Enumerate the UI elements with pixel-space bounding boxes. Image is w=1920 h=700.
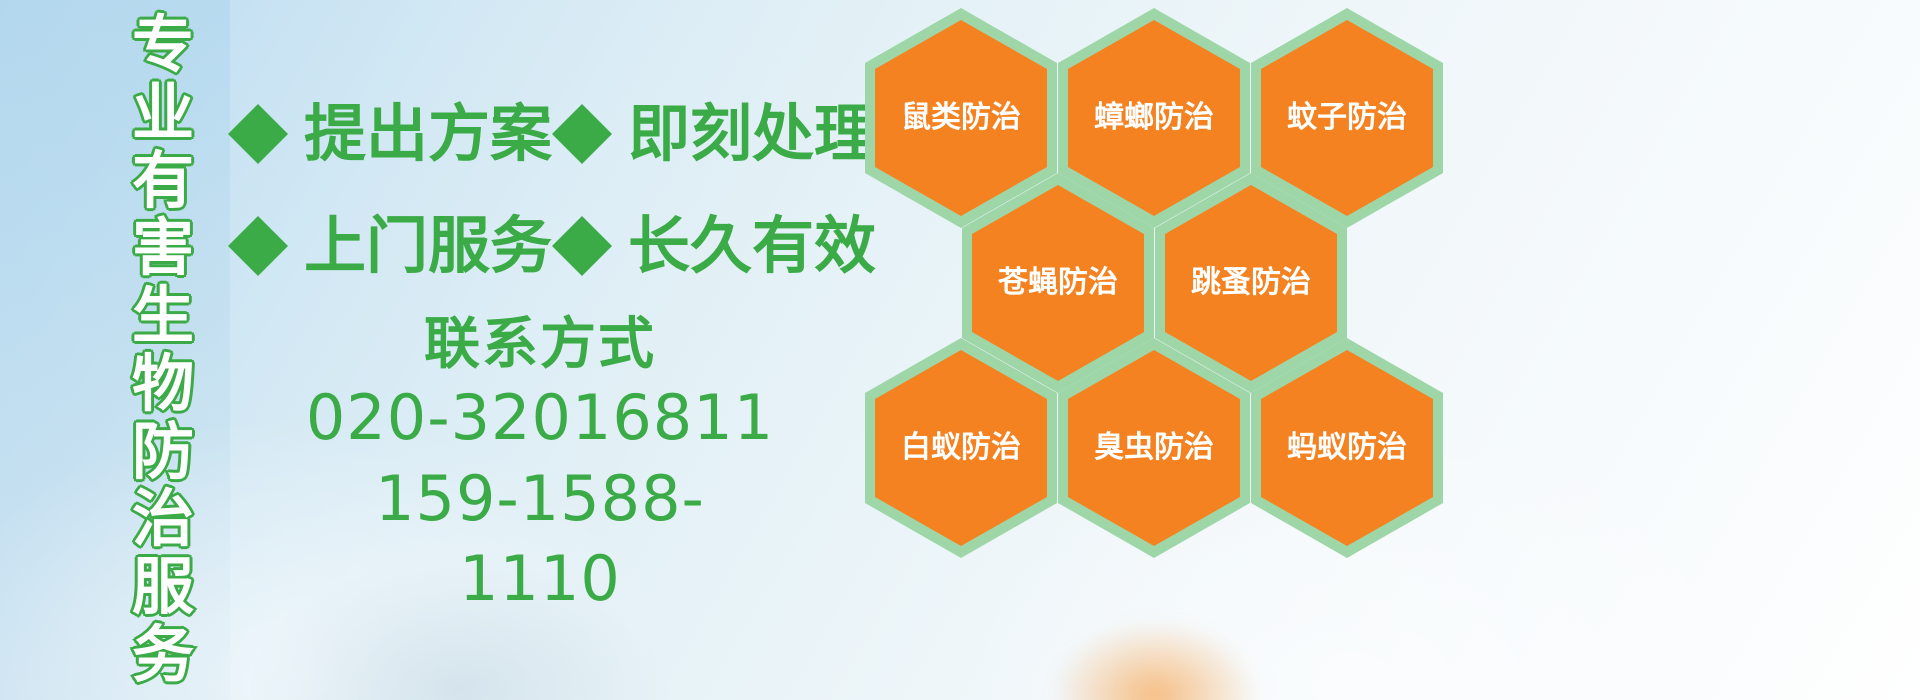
vertical-headline-char: 服 xyxy=(132,556,194,618)
diamond-icon xyxy=(552,74,612,134)
feature-list: 提出方案 即刻处理 上门服务 长久有效 xyxy=(228,78,868,302)
feature-item-immediate-handling: 即刻处理 xyxy=(552,103,876,165)
hexagon-inner: 蚊子防治 xyxy=(1261,20,1433,216)
feature-row: 上门服务 长久有效 xyxy=(228,190,868,302)
hexagon-inner: 蚂蚁防治 xyxy=(1261,350,1433,546)
hexagon-inner: 跳蚤防治 xyxy=(1165,185,1337,381)
hexagon-inner: 苍蝇防治 xyxy=(972,185,1144,381)
feature-item-long-lasting: 长久有效 xyxy=(552,215,876,277)
service-label: 白蚁防治 xyxy=(901,433,1021,463)
service-label: 蟑螂防治 xyxy=(1094,103,1214,133)
vertical-headline-char: 专 xyxy=(132,14,194,76)
background-orange-blur xyxy=(1050,620,1260,700)
diamond-icon xyxy=(552,186,612,246)
service-hexagon-grid: 鼠类防治 蟑螂防治 蚊子防治 苍蝇防治 跳蚤防治 白蚁防治 xyxy=(855,0,1475,560)
contact-phone-mobile[interactable]: 159-1588-1110 xyxy=(300,459,780,620)
vertical-headline-char: 物 xyxy=(132,353,194,415)
contact-title: 联系方式 xyxy=(300,312,780,378)
vertical-headline-char: 务 xyxy=(132,624,194,686)
feature-label: 提出方案 xyxy=(304,103,552,165)
feature-row: 提出方案 即刻处理 xyxy=(228,78,868,190)
feature-item-onsite-service: 上门服务 xyxy=(228,215,552,277)
service-label: 跳蚤防治 xyxy=(1191,268,1311,298)
vertical-headline-char: 防 xyxy=(132,421,194,483)
feature-label: 即刻处理 xyxy=(628,103,876,165)
service-label: 蚂蚁防治 xyxy=(1287,433,1407,463)
vertical-headline: 专 业 有 害 生 物 防 治 服 务 xyxy=(108,14,218,686)
contact-block: 联系方式 020-32016811 159-1588-1110 xyxy=(300,312,780,620)
hexagon-inner: 白蚁防治 xyxy=(875,350,1047,546)
hexagon-inner: 蟑螂防治 xyxy=(1068,20,1240,216)
feature-item-propose-plan: 提出方案 xyxy=(228,103,552,165)
pest-control-banner: 专 业 有 害 生 物 防 治 服 务 提出方案 即刻处理 上门服务 xyxy=(0,0,1920,700)
service-label: 臭虫防治 xyxy=(1094,433,1214,463)
diamond-icon xyxy=(228,74,288,134)
vertical-headline-char: 害 xyxy=(132,217,194,279)
contact-phone-landline[interactable]: 020-32016811 xyxy=(300,378,780,459)
diamond-icon xyxy=(228,186,288,246)
feature-label: 上门服务 xyxy=(304,215,552,277)
vertical-headline-char: 生 xyxy=(132,285,194,347)
service-label: 蚊子防治 xyxy=(1287,103,1407,133)
service-label: 鼠类防治 xyxy=(901,103,1021,133)
hexagon-inner: 鼠类防治 xyxy=(875,20,1047,216)
service-label: 苍蝇防治 xyxy=(998,268,1118,298)
hexagon-inner: 臭虫防治 xyxy=(1068,350,1240,546)
vertical-headline-char: 治 xyxy=(132,488,194,550)
vertical-headline-char: 有 xyxy=(132,150,194,212)
vertical-headline-char: 业 xyxy=(132,82,194,144)
feature-label: 长久有效 xyxy=(628,215,876,277)
